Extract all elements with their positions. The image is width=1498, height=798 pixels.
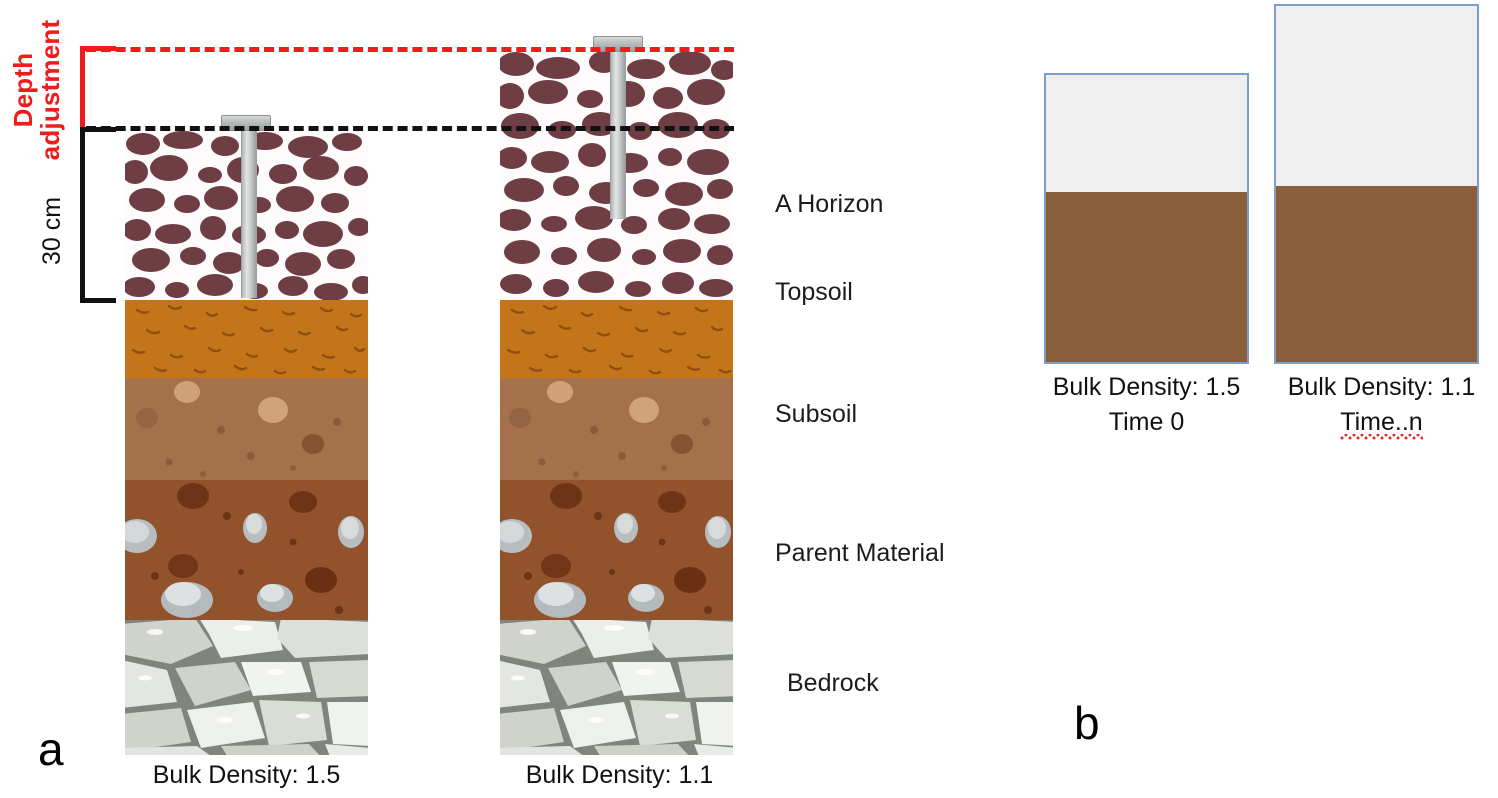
stone-pattern bbox=[125, 480, 368, 620]
container-time-label-time-n: Time..n bbox=[1265, 408, 1498, 437]
container-bulk-density-label-time-n: Bulk Density: 1.1 bbox=[1265, 373, 1498, 402]
horizon-label-a-horizon: A Horizon bbox=[775, 190, 883, 219]
container-soil-fill bbox=[1276, 186, 1477, 362]
bedrock-pattern bbox=[125, 620, 368, 755]
bulk-density-label-left: Bulk Density: 1.5 bbox=[125, 761, 368, 790]
layer-bedrock bbox=[500, 620, 733, 755]
bracket-vertical bbox=[80, 46, 85, 132]
bulk-density-label-right: Bulk Density: 1.1 bbox=[498, 761, 741, 790]
layer-subsoil-light bbox=[500, 378, 733, 480]
container-bulk-density-label-time-zero: Bulk Density: 1.5 bbox=[1030, 373, 1263, 402]
soil-probe-shaft-right bbox=[610, 52, 626, 219]
time-n-text: Time..n bbox=[1340, 408, 1422, 436]
soil-column-right bbox=[500, 52, 733, 755]
container-time-label-time-zero: Time 0 bbox=[1030, 408, 1263, 437]
panel-label-a: a bbox=[38, 726, 64, 772]
layer-subsoil-orange bbox=[125, 300, 368, 378]
bracket-bottom-tick bbox=[80, 298, 116, 303]
horizon-label-subsoil: Subsoil bbox=[775, 400, 857, 429]
soil-probe-shaft-left bbox=[241, 130, 257, 298]
stone-pattern bbox=[500, 480, 733, 620]
bedrock-pattern bbox=[500, 620, 733, 755]
inclusion-pattern bbox=[500, 378, 733, 480]
layer-subsoil-light bbox=[125, 378, 368, 480]
red-reference-line bbox=[86, 47, 734, 52]
layer-parent-material bbox=[125, 480, 368, 620]
depth-adjustment-line2: adjustment bbox=[35, 20, 65, 161]
layer-subsoil-orange bbox=[500, 300, 733, 378]
bulk-container-time-zero bbox=[1044, 73, 1249, 364]
panel-label-b: b bbox=[1074, 700, 1100, 746]
speckle-pattern bbox=[500, 300, 733, 378]
bulk-container-time-n bbox=[1274, 4, 1479, 364]
speckle-pattern bbox=[125, 300, 368, 378]
bracket-vertical bbox=[80, 127, 85, 303]
inclusion-pattern bbox=[125, 378, 368, 480]
container-soil-fill bbox=[1046, 192, 1247, 362]
layer-parent-material bbox=[500, 480, 733, 620]
depth-adjustment-label: Depth adjustment bbox=[10, 5, 64, 175]
horizon-label-parent-material: Parent Material bbox=[775, 539, 945, 568]
black-reference-line bbox=[86, 126, 734, 131]
soil-column-left bbox=[125, 130, 368, 755]
horizon-label-bedrock: Bedrock bbox=[787, 669, 879, 698]
depth-scale-label: 30 cm bbox=[38, 197, 67, 265]
depth-adjustment-line1: Depth bbox=[8, 53, 38, 128]
layer-bedrock bbox=[125, 620, 368, 755]
horizon-label-topsoil: Topsoil bbox=[775, 278, 853, 307]
spellcheck-underline bbox=[1340, 434, 1422, 440]
